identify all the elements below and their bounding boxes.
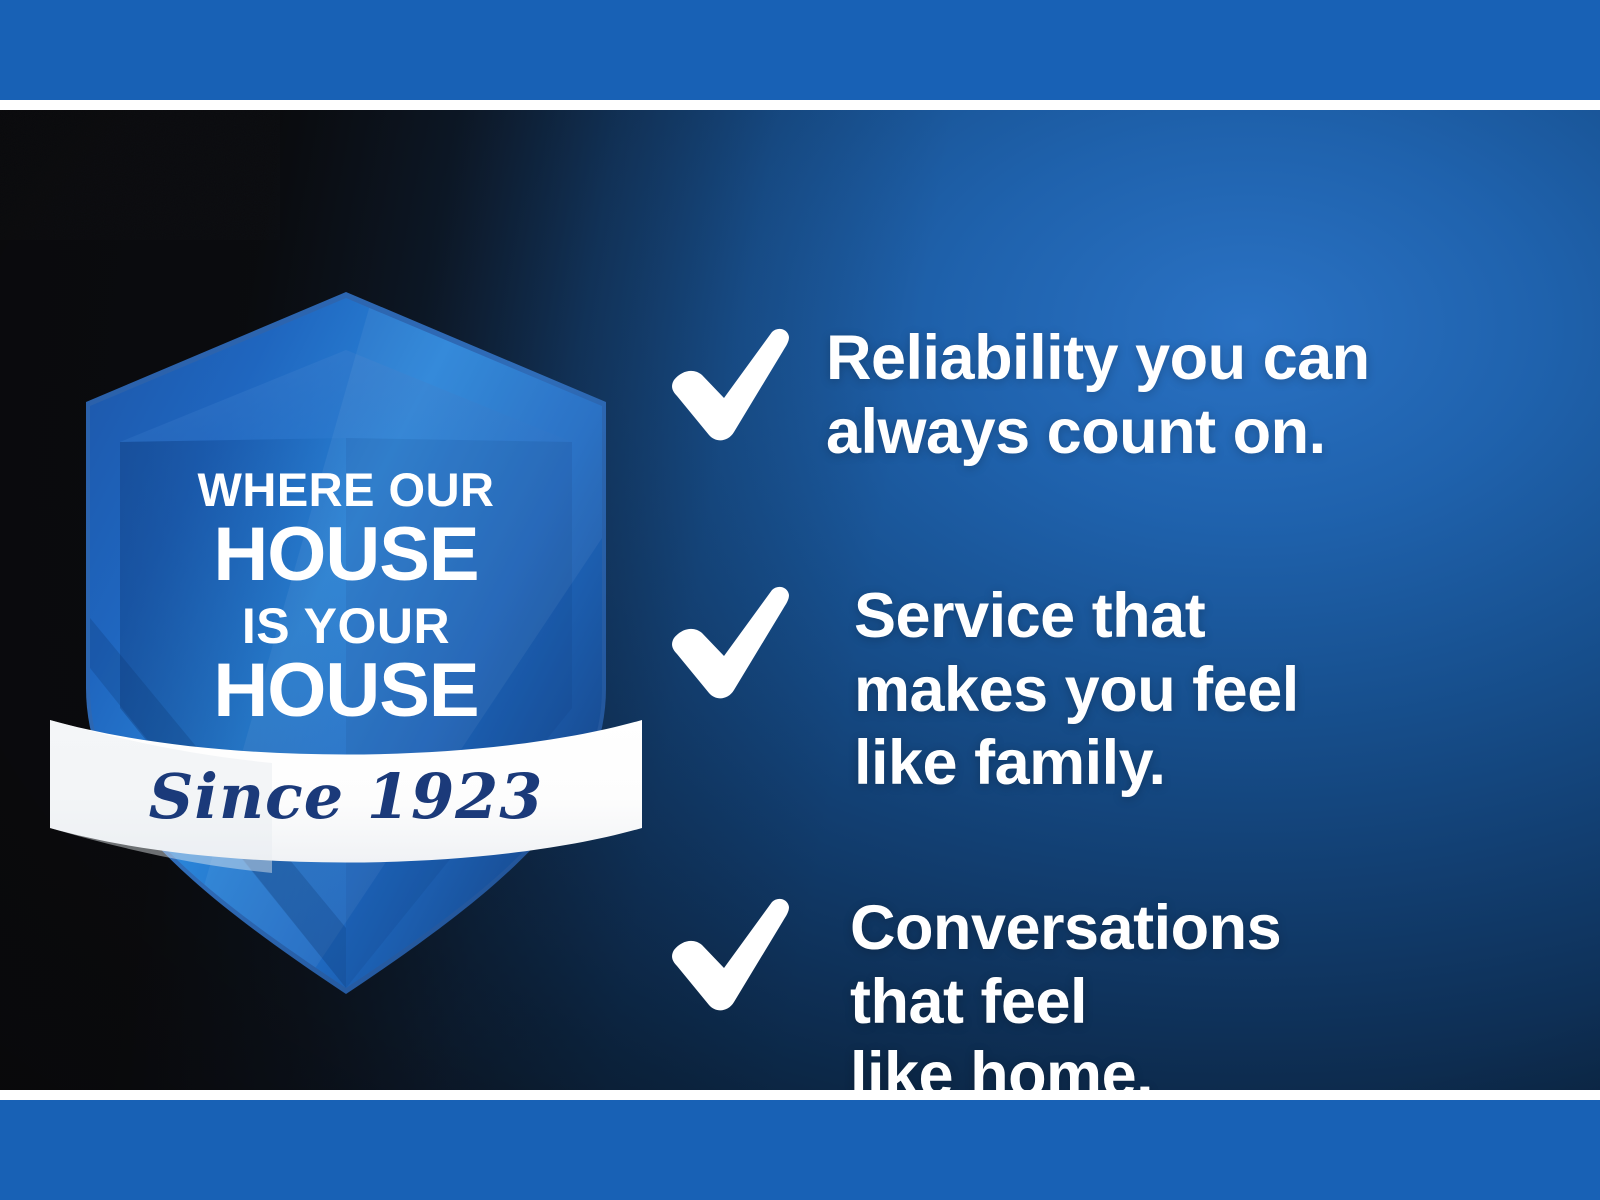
benefit-item: Reliability you can always count on. — [668, 322, 1548, 469]
benefit-item: Service that makes you feel like family. — [668, 580, 1548, 801]
bottom-brand-bar — [0, 1100, 1600, 1200]
shield-wordmark: WHERE OUR HOUSE IS YOUR HOUSE — [198, 463, 495, 733]
benefit-text: Reliability you can always count on. — [826, 322, 1548, 469]
benefit-text: Service that makes you feel like family. — [826, 580, 1548, 801]
main-stage: WHERE OUR HOUSE IS YOUR HOUSE Since 1923 — [0, 110, 1600, 1090]
check-icon — [668, 328, 790, 444]
check-icon — [668, 586, 790, 702]
badge-line-1: WHERE OUR — [198, 463, 495, 516]
badge-line-3: IS YOUR — [242, 598, 450, 654]
benefit-list: Reliability you can always count on. Ser… — [668, 282, 1548, 1090]
badge-line-4: HOUSE — [213, 648, 478, 733]
benefit-item: Conversations that feel like home. — [668, 892, 1548, 1090]
check-icon — [668, 898, 790, 1014]
badge-line-2: HOUSE — [213, 512, 478, 597]
benefit-text: Conversations that feel like home. — [826, 892, 1548, 1090]
shield-badge: WHERE OUR HOUSE IS YOUR HOUSE Since 1923 — [72, 288, 620, 928]
ribbon-text: Since 1923 — [149, 760, 544, 833]
promo-poster: WHERE OUR HOUSE IS YOUR HOUSE Since 1923 — [0, 0, 1600, 1200]
top-brand-bar — [0, 0, 1600, 100]
